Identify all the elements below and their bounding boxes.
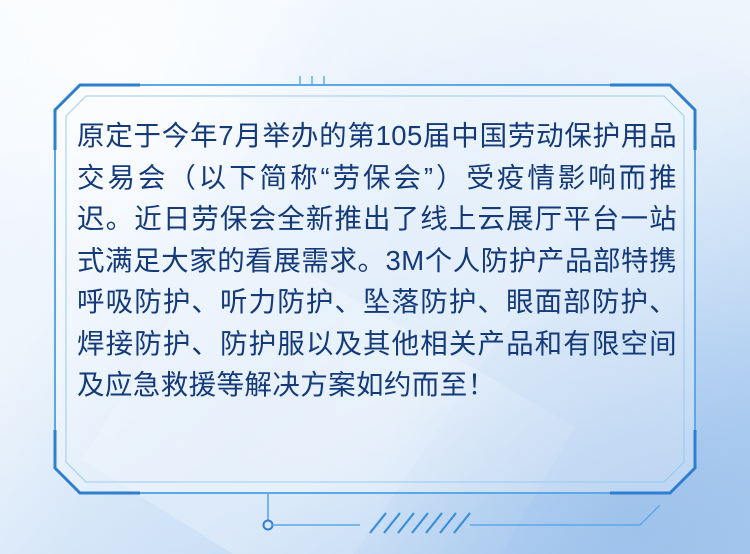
bottom-right-tail-line bbox=[470, 505, 660, 525]
poster-canvas: 原定于今年7月举办的第105届中国劳动保护用品交易会（以下简称“劳保会”）受疫情… bbox=[0, 0, 750, 554]
circle-node bbox=[264, 521, 273, 530]
diagonal-hatch-lines bbox=[370, 513, 470, 533]
body-paragraph: 原定于今年7月举办的第105届中国劳动保护用品交易会（以下简称“劳保会”）受疫情… bbox=[77, 115, 677, 406]
